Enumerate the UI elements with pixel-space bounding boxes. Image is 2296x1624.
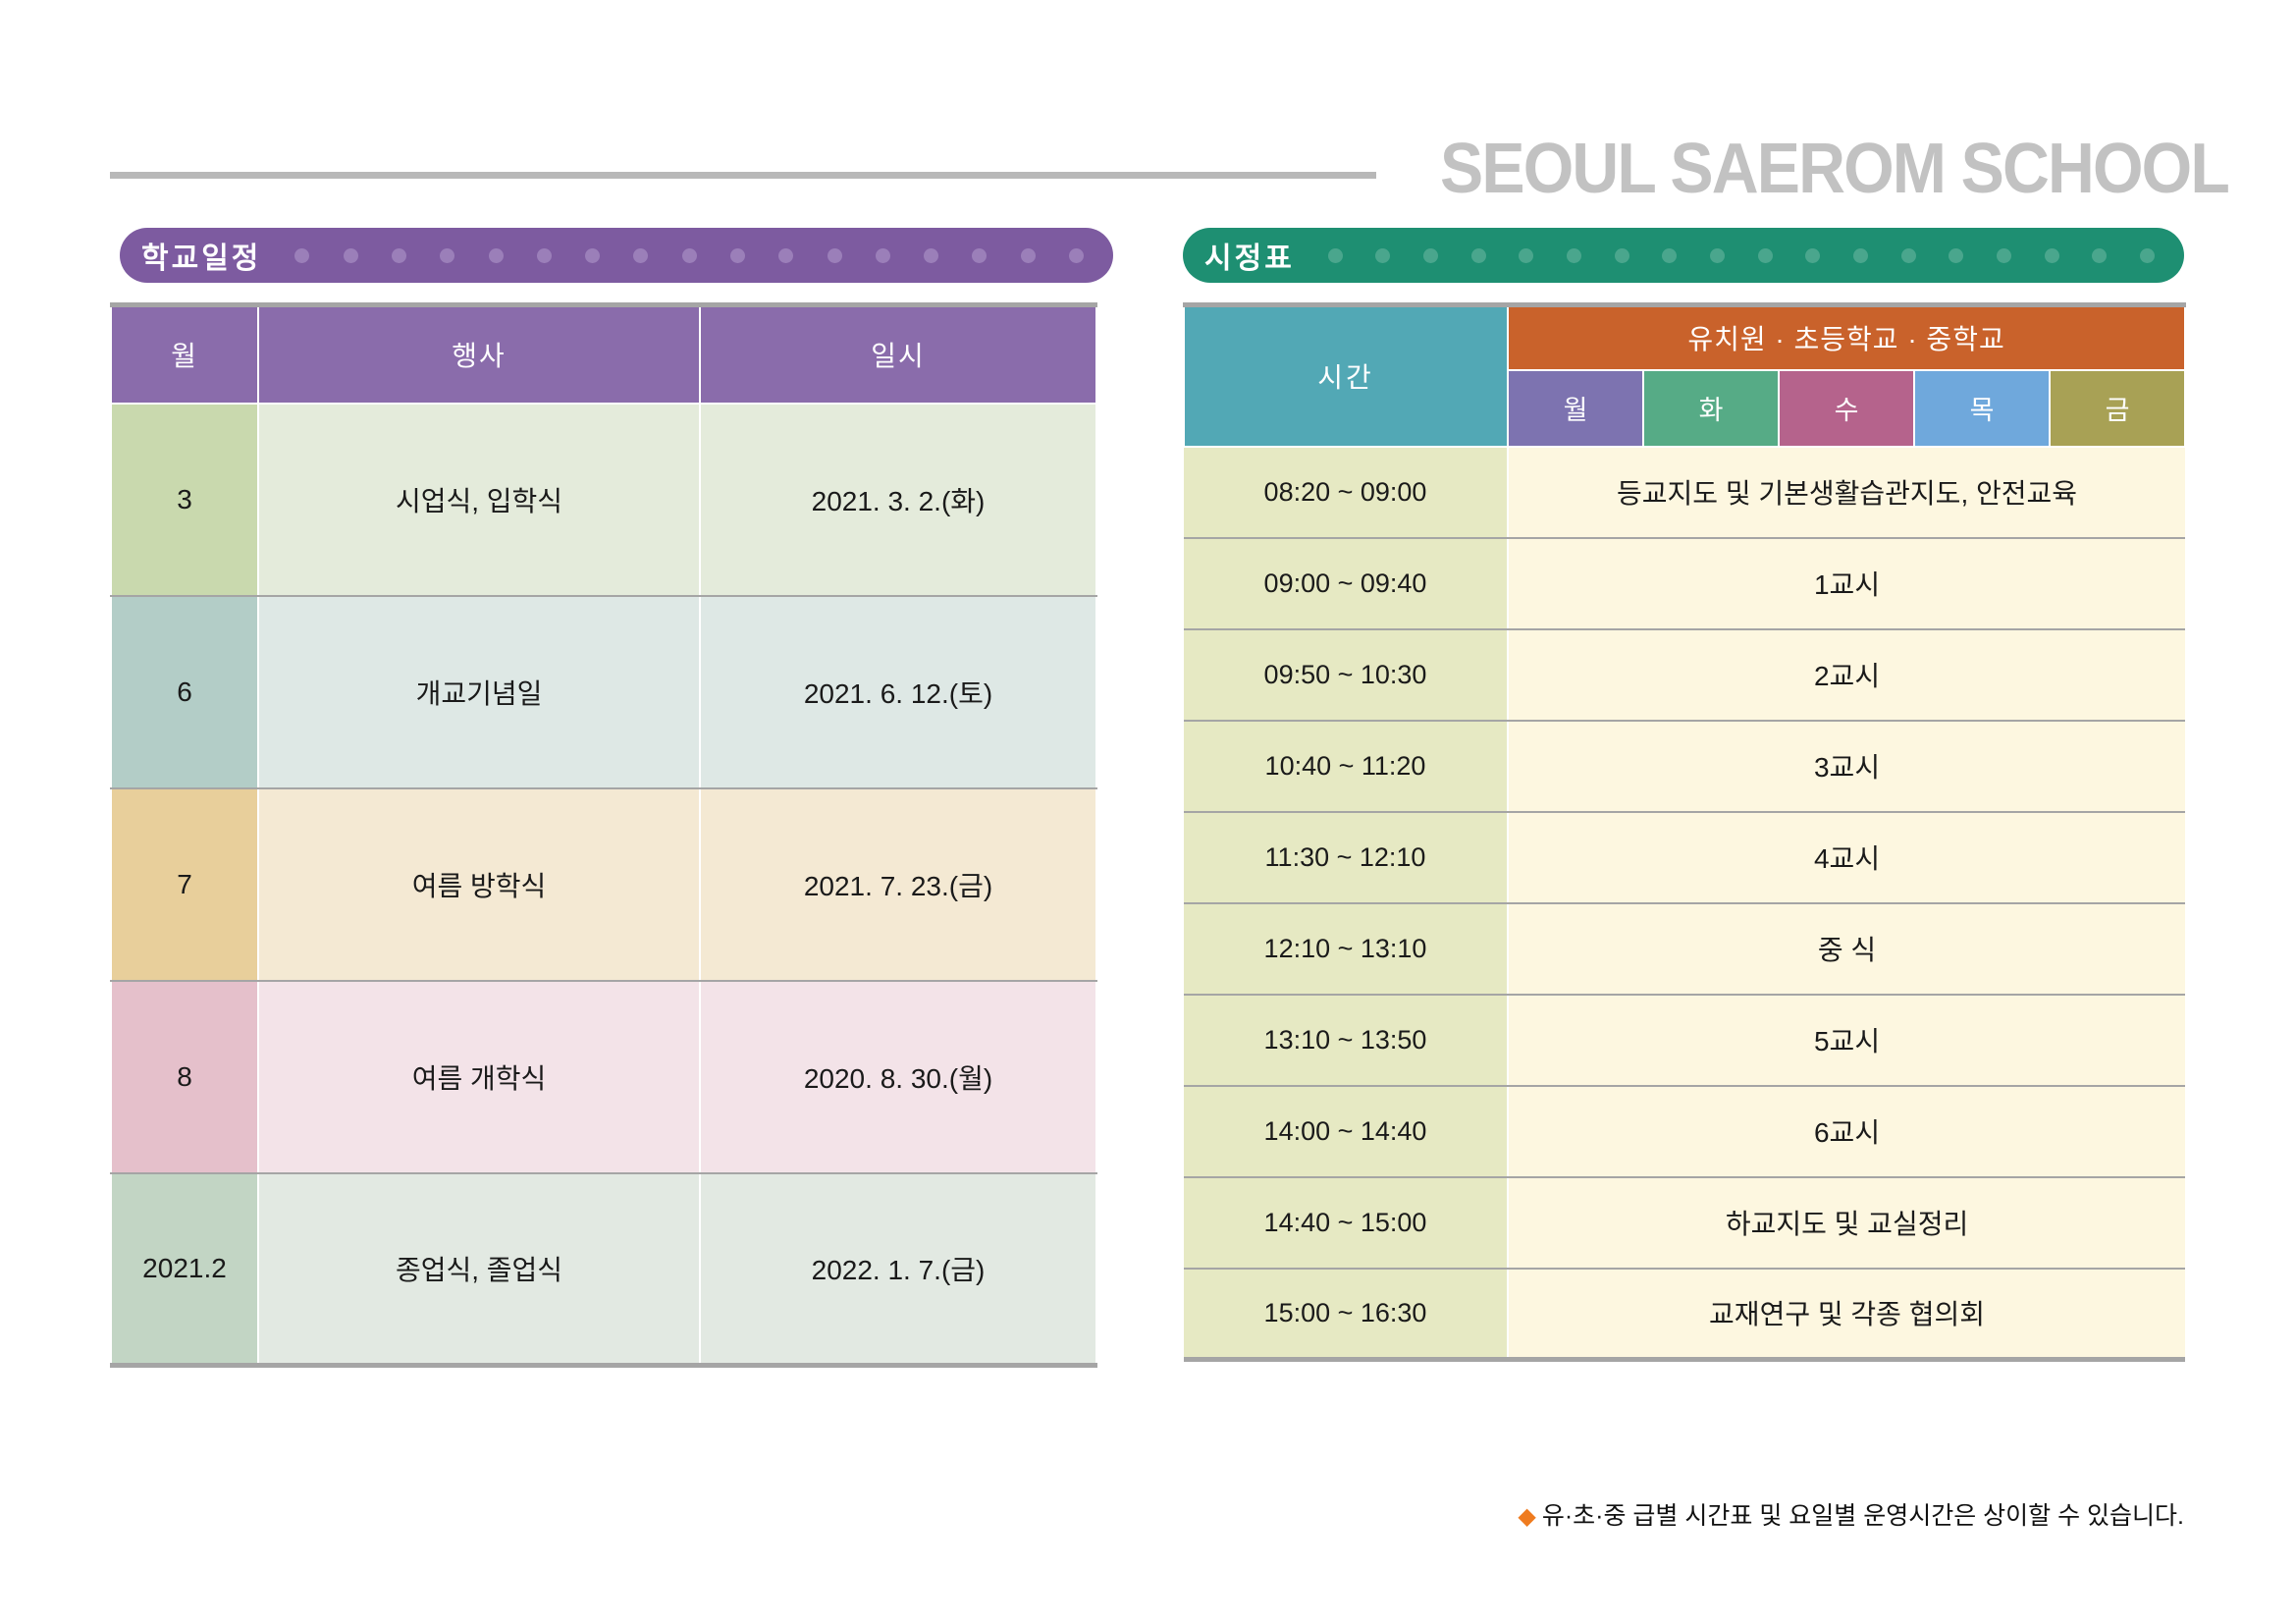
calendar-cell-month: 3 — [111, 404, 258, 596]
decorative-dot — [1949, 248, 1963, 263]
decorative-dot — [1901, 248, 1916, 263]
table-row: 8여름 개학식2020. 8. 30.(월) — [111, 981, 1096, 1173]
table-row: 09:00 ~ 09:401교시 — [1184, 538, 2185, 629]
calendar-cell-month: 8 — [111, 981, 258, 1173]
calendar-cell-month: 7 — [111, 788, 258, 981]
decorative-dot — [440, 248, 454, 263]
column-header-day-화: 화 — [1643, 370, 1779, 447]
decorative-dot — [1471, 248, 1486, 263]
decorative-dot — [633, 248, 648, 263]
decorative-dot — [489, 248, 504, 263]
decorative-dot — [924, 248, 938, 263]
column-header-day-금: 금 — [2050, 370, 2185, 447]
calendar-cell-month: 6 — [111, 596, 258, 788]
calendar-cell-date: 2021. 3. 2.(화) — [700, 404, 1096, 596]
page-root: SEOUL SAEROM SCHOOL 학교일정 시정표 월 행사 일시 3시업… — [0, 0, 2296, 1624]
schedule-cell-activity: 4교시 — [1508, 812, 2185, 903]
column-header-day-목: 목 — [1914, 370, 2050, 447]
calendar-cell-event: 종업식, 졸업식 — [258, 1173, 700, 1366]
daily-schedule-table: 시간 유치원 · 초등학교 · 중학교 월화수목금 08:20 ~ 09:00등… — [1183, 302, 2186, 1362]
daily-schedule-section-label: 시정표 — [1183, 234, 1295, 277]
calendar-cell-date: 2020. 8. 30.(월) — [700, 981, 1096, 1173]
calendar-cell-month: 2021.2 — [111, 1173, 258, 1366]
daily-schedule-section-header: 시정표 — [1183, 228, 2184, 283]
schedule-cell-time: 09:50 ~ 10:30 — [1184, 629, 1508, 721]
decorative-dot — [2092, 248, 2107, 263]
calendar-cell-event: 개교기념일 — [258, 596, 700, 788]
table-row: 14:00 ~ 14:406교시 — [1184, 1086, 2185, 1177]
decorative-dot — [1758, 248, 1773, 263]
calendar-cell-event: 시업식, 입학식 — [258, 404, 700, 596]
decorative-dot — [1069, 248, 1084, 263]
calendar-cell-event: 여름 개학식 — [258, 981, 700, 1173]
schedule-cell-time: 14:40 ~ 15:00 — [1184, 1177, 1508, 1269]
schedule-cell-activity: 중 식 — [1508, 903, 2185, 995]
schedule-cell-activity: 1교시 — [1508, 538, 2185, 629]
decorative-dot — [1021, 248, 1036, 263]
decorative-dot — [876, 248, 890, 263]
calendar-cell-date: 2022. 1. 7.(금) — [700, 1173, 1096, 1366]
schedule-cell-time: 11:30 ~ 12:10 — [1184, 812, 1508, 903]
table-row: 7여름 방학식2021. 7. 23.(금) — [111, 788, 1096, 981]
decorative-dot — [1615, 248, 1629, 263]
schedule-cell-activity: 2교시 — [1508, 629, 2185, 721]
decorative-dot — [1662, 248, 1677, 263]
decorative-dot — [585, 248, 600, 263]
decorative-dot — [2140, 248, 2155, 263]
calendar-cell-event: 여름 방학식 — [258, 788, 700, 981]
schedule-cell-activity: 6교시 — [1508, 1086, 2185, 1177]
daily-schedule-dot-pattern — [1295, 248, 2184, 263]
schedule-cell-activity: 하교지도 및 교실정리 — [1508, 1177, 2185, 1269]
schedule-footnote: ◆유·초·중 급별 시간표 및 요일별 운영시간은 상이할 수 있습니다. — [1183, 1496, 2184, 1532]
decorative-dot — [344, 248, 358, 263]
decorative-dot — [1710, 248, 1725, 263]
table-row: 3시업식, 입학식2021. 3. 2.(화) — [111, 404, 1096, 596]
diamond-icon: ◆ — [1518, 1503, 1535, 1530]
schedule-footnote-text: 유·초·중 급별 시간표 및 요일별 운영시간은 상이할 수 있습니다. — [1542, 1502, 2184, 1530]
school-calendar-table: 월 행사 일시 3시업식, 입학식2021. 3. 2.(화)6개교기념일202… — [110, 302, 1097, 1368]
decorative-dot — [1853, 248, 1868, 263]
calendar-cell-date: 2021. 7. 23.(금) — [700, 788, 1096, 981]
column-header-day-월: 월 — [1508, 370, 1643, 447]
table-row: 12:10 ~ 13:10중 식 — [1184, 903, 2185, 995]
decorative-dot — [730, 248, 745, 263]
table-row: 10:40 ~ 11:203교시 — [1184, 721, 2185, 812]
table-row: 15:00 ~ 16:30교재연구 및 각종 협의회 — [1184, 1269, 2185, 1360]
table-row: 11:30 ~ 12:104교시 — [1184, 812, 2185, 903]
decorative-dot — [1519, 248, 1533, 263]
schedule-cell-activity: 등교지도 및 기본생활습관지도, 안전교육 — [1508, 447, 2185, 538]
table-row: 13:10 ~ 13:505교시 — [1184, 995, 2185, 1086]
decorative-dot — [392, 248, 406, 263]
schedule-cell-time: 14:00 ~ 14:40 — [1184, 1086, 1508, 1177]
column-header-day-수: 수 — [1779, 370, 1914, 447]
decorative-dot — [828, 248, 842, 263]
decorative-dot — [1997, 248, 2011, 263]
page-title: SEOUL SAEROM SCHOOL — [1433, 130, 2228, 208]
column-header-month: 월 — [111, 305, 258, 404]
decorative-dot — [1567, 248, 1581, 263]
schedule-cell-activity: 교재연구 및 각종 협의회 — [1508, 1269, 2185, 1360]
table-row: 09:50 ~ 10:302교시 — [1184, 629, 2185, 721]
schedule-cell-time: 12:10 ~ 13:10 — [1184, 903, 1508, 995]
table-header-row: 월 행사 일시 — [111, 305, 1096, 404]
school-calendar-section-label: 학교일정 — [120, 234, 261, 277]
schedule-cell-time: 08:20 ~ 09:00 — [1184, 447, 1508, 538]
schedule-cell-time: 09:00 ~ 09:40 — [1184, 538, 1508, 629]
decorative-dot — [537, 248, 552, 263]
table-row: 08:20 ~ 09:00등교지도 및 기본생활습관지도, 안전교육 — [1184, 447, 2185, 538]
schedule-cell-activity: 3교시 — [1508, 721, 2185, 812]
calendar-cell-date: 2021. 6. 12.(토) — [700, 596, 1096, 788]
decorative-dot — [1328, 248, 1343, 263]
schedule-cell-time: 10:40 ~ 11:20 — [1184, 721, 1508, 812]
school-calendar-dot-pattern — [261, 248, 1113, 263]
column-header-date: 일시 — [700, 305, 1096, 404]
decorative-dot — [778, 248, 793, 263]
column-header-school-levels: 유치원 · 초등학교 · 중학교 — [1508, 305, 2185, 370]
school-calendar-section-header: 학교일정 — [120, 228, 1113, 283]
decorative-dot — [294, 248, 309, 263]
column-header-time: 시간 — [1184, 305, 1508, 447]
brand-divider-rule — [110, 172, 1376, 179]
decorative-dot — [1375, 248, 1390, 263]
decorative-dot — [972, 248, 987, 263]
schedule-header-row-top: 시간 유치원 · 초등학교 · 중학교 — [1184, 305, 2185, 370]
table-row: 2021.2종업식, 졸업식2022. 1. 7.(금) — [111, 1173, 1096, 1366]
table-row: 14:40 ~ 15:00하교지도 및 교실정리 — [1184, 1177, 2185, 1269]
column-header-event: 행사 — [258, 305, 700, 404]
schedule-cell-time: 13:10 ~ 13:50 — [1184, 995, 1508, 1086]
table-row: 6개교기념일2021. 6. 12.(토) — [111, 596, 1096, 788]
schedule-cell-time: 15:00 ~ 16:30 — [1184, 1269, 1508, 1360]
decorative-dot — [1423, 248, 1438, 263]
schedule-cell-activity: 5교시 — [1508, 995, 2185, 1086]
decorative-dot — [2045, 248, 2059, 263]
decorative-dot — [682, 248, 697, 263]
decorative-dot — [1805, 248, 1820, 263]
